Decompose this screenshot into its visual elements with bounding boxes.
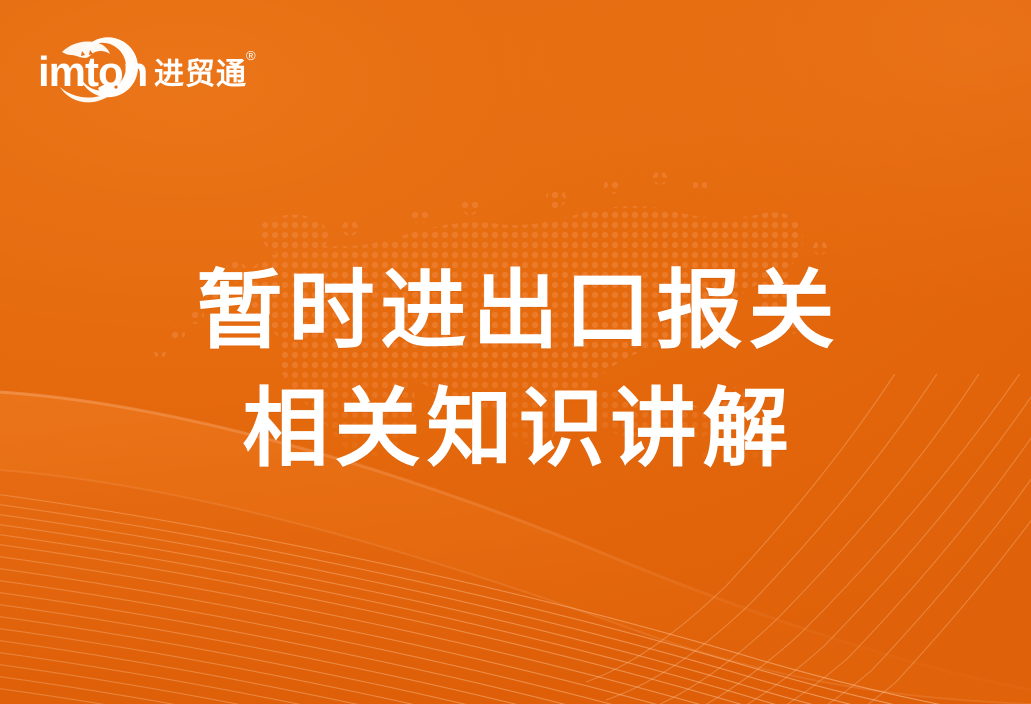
title-line-1: 暂时进出口报关 (0, 252, 1031, 370)
svg-text:进贸通: 进贸通 (154, 58, 247, 91)
svg-text:imton: imton (38, 48, 147, 95)
trademark-icon: ® (246, 48, 256, 63)
svg-text:®: ® (246, 48, 256, 63)
logo-wordmark-chinese: 进贸通 (154, 58, 247, 91)
title-block: 暂时进出口报关 相关知识讲解 (0, 252, 1031, 488)
brand-logo[interactable]: imton 进贸通 ® (38, 24, 268, 110)
title-line-2: 相关知识讲解 (0, 370, 1031, 488)
logo-wordmark-latin: imton (38, 48, 147, 95)
promo-banner: imton 进贸通 ® 暂时进出口报关 相关知识讲解 (0, 0, 1031, 704)
